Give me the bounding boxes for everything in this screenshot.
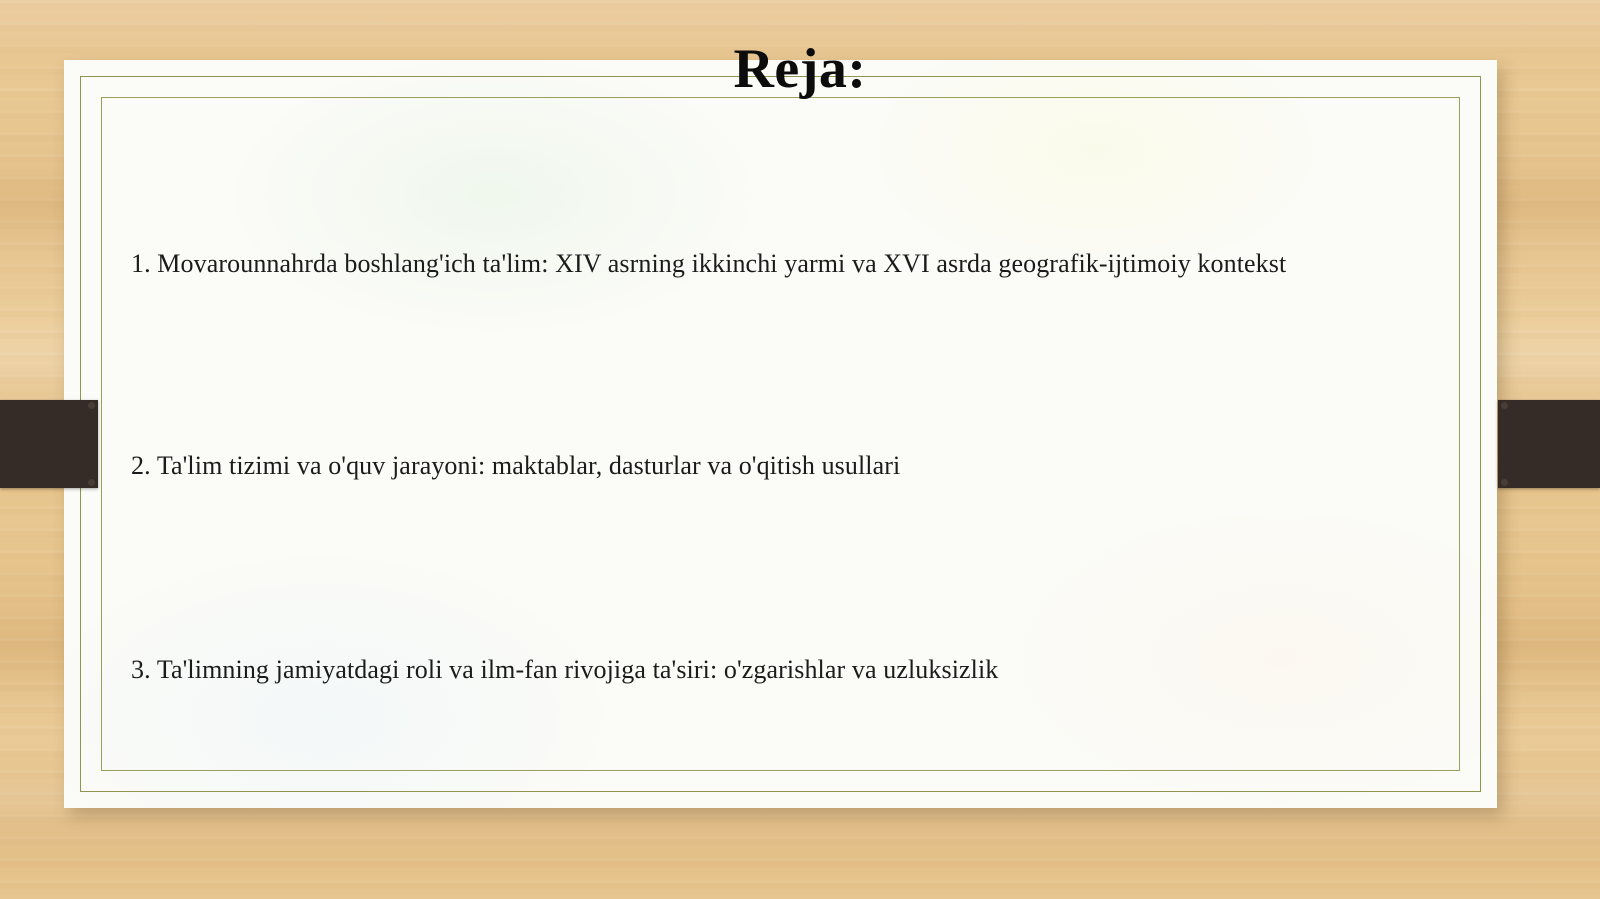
tab-knob-icon [1501,402,1508,409]
slide-body-list: 1. Movarounnahrda boshlang'ich ta'lim: X… [131,246,1421,688]
list-item: 3. Ta'limning jamiyatdagi roli va ilm-fa… [131,652,1421,688]
decorative-tab-left [0,400,98,488]
tab-knob-icon [88,479,95,486]
presentation-slide: Reja: 1. Movarounnahrda boshlang'ich ta'… [0,0,1600,899]
decorative-tab-right [1498,400,1600,488]
tab-knob-icon [88,402,95,409]
slide-title: Reja: [0,38,1600,100]
list-item: 2. Ta'lim tizimi va o'quv jarayoni: makt… [131,448,1421,484]
list-item: 1. Movarounnahrda boshlang'ich ta'lim: X… [131,246,1421,282]
tab-knob-icon [1501,479,1508,486]
